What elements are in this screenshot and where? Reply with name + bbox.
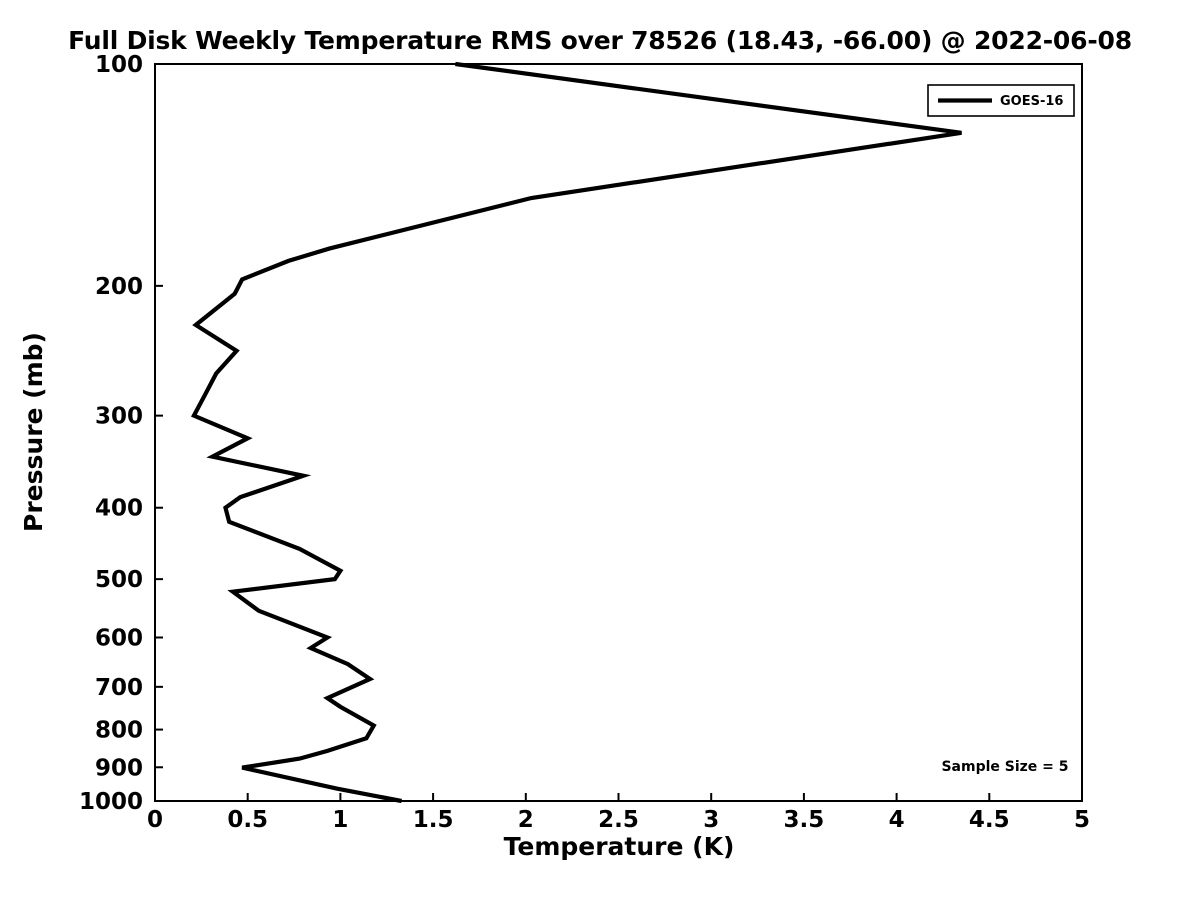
y-tick-label: 500 xyxy=(95,567,143,593)
x-tick-label: 3.5 xyxy=(784,807,825,833)
temperature-rms-profile-plot: 00.511.522.533.544.55 100200300400500600… xyxy=(0,0,1200,900)
x-tick-label: 2 xyxy=(518,807,534,833)
y-axis-tickmarks xyxy=(155,64,163,801)
y-axis-tick-labels: 1002003004005006007008009001000 xyxy=(79,52,143,815)
y-tick-label: 600 xyxy=(95,625,143,651)
x-tick-label: 0 xyxy=(147,807,163,833)
y-tick-label: 1000 xyxy=(79,789,143,815)
y-tick-label: 700 xyxy=(95,675,143,701)
y-tick-label: 400 xyxy=(95,496,143,522)
x-tick-label: 4.5 xyxy=(969,807,1010,833)
sample-size-annotation: Sample Size = 5 xyxy=(941,759,1068,775)
legend-label-goes-16: GOES-16 xyxy=(1000,94,1063,109)
data-series-group xyxy=(194,64,962,801)
x-tick-label: 3 xyxy=(703,807,719,833)
x-tick-label: 1.5 xyxy=(413,807,454,833)
y-tick-label: 200 xyxy=(95,274,143,300)
legend[interactable]: GOES-16 xyxy=(928,85,1074,116)
series-line-goes-16 xyxy=(194,64,962,801)
axes-frame xyxy=(155,64,1082,801)
x-tick-label: 5 xyxy=(1074,807,1090,833)
y-tick-label: 800 xyxy=(95,718,143,744)
x-axis-title: Temperature (K) xyxy=(504,832,735,861)
y-tick-label: 100 xyxy=(95,52,143,78)
y-tick-label: 900 xyxy=(95,755,143,781)
figure-canvas: Full Disk Weekly Temperature RMS over 78… xyxy=(0,0,1200,900)
x-tick-label: 2.5 xyxy=(598,807,639,833)
x-tick-label: 1 xyxy=(332,807,348,833)
x-tick-label: 0.5 xyxy=(227,807,268,833)
x-tick-label: 4 xyxy=(889,807,905,833)
y-tick-label: 300 xyxy=(95,404,143,430)
x-axis-tick-labels: 00.511.522.533.544.55 xyxy=(147,807,1090,833)
y-axis-title: Pressure (mb) xyxy=(19,332,48,532)
x-axis-tickmarks xyxy=(155,793,1082,801)
